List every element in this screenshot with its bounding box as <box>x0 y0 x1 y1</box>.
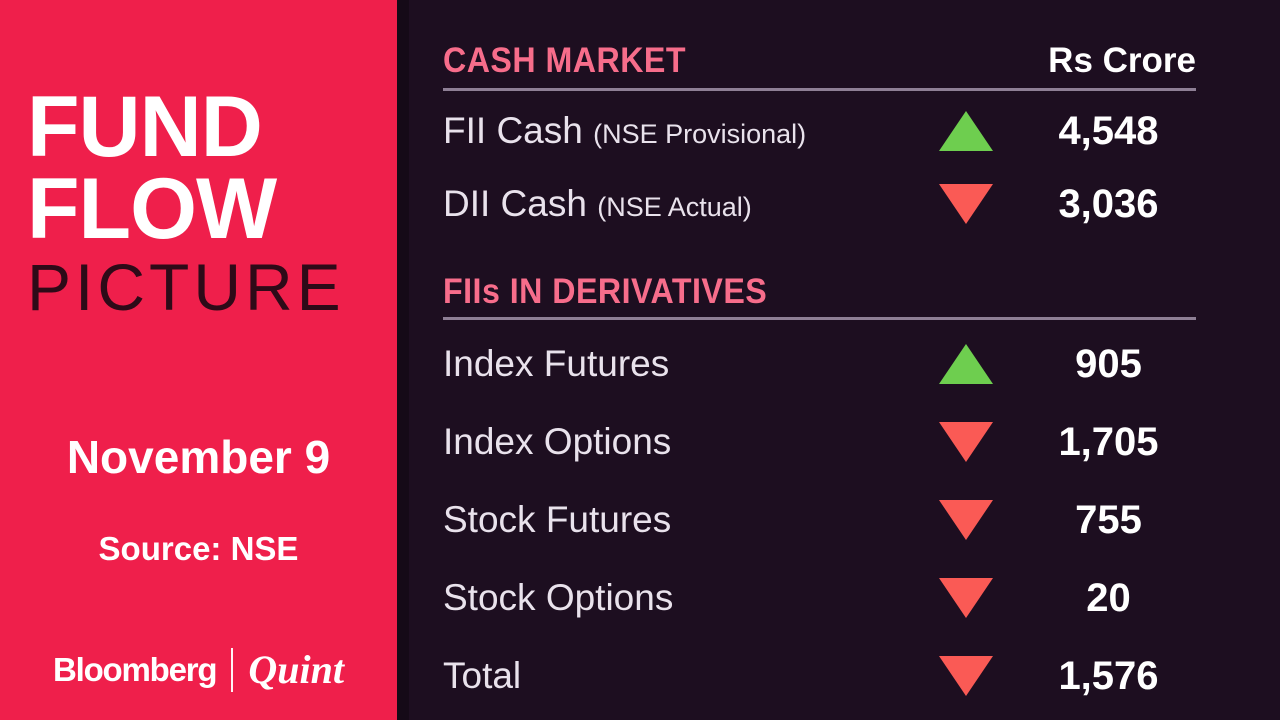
row-value-stock-futures: 755 <box>1021 498 1196 543</box>
triangle-down-icon <box>911 656 1021 696</box>
row-label-fii-cash: FII Cash (NSE Provisional) <box>443 110 911 152</box>
row-label-index-futures: Index Futures <box>443 343 911 385</box>
section-header-fiis-derivatives: FIIs IN DERIVATIVES <box>443 272 1196 312</box>
triangle-down-icon <box>911 184 1021 224</box>
table-row: Index Options 1,705 <box>443 413 1196 471</box>
fund-flow-picture-card: FUND FLOW PICTURE November 9 Source: NSE… <box>0 0 1280 720</box>
section-title-cash-market: CASH MARKET <box>443 41 686 81</box>
source-label: Source: NSE <box>0 530 397 568</box>
logo-bloomberg-text: Bloomberg <box>53 651 216 689</box>
publisher-logo: Bloomberg Quint <box>0 646 397 693</box>
section-unit-rs-crore: Rs Crore <box>1048 41 1196 81</box>
row-value-index-options: 1,705 <box>1021 420 1196 465</box>
triangle-down-icon <box>911 500 1021 540</box>
row-label-stock-futures: Stock Futures <box>443 499 911 541</box>
branding-panel: FUND FLOW PICTURE November 9 Source: NSE… <box>0 0 397 720</box>
logo-quint-text: Quint <box>248 646 344 693</box>
row-value-index-futures: 905 <box>1021 342 1196 387</box>
row-value-dii-cash: 3,036 <box>1021 182 1196 227</box>
row-value-stock-options: 20 <box>1021 576 1196 621</box>
row-value-fii-cash: 4,548 <box>1021 109 1196 154</box>
table-row: DII Cash (NSE Actual) 3,036 <box>443 175 1196 233</box>
panel-gutter <box>397 0 409 720</box>
triangle-up-icon <box>911 344 1021 384</box>
row-sublabel-fii-cash: (NSE Provisional) <box>593 119 806 149</box>
table-row: FII Cash (NSE Provisional) 4,548 <box>443 102 1196 160</box>
triangle-down-icon <box>911 422 1021 462</box>
row-label-index-options: Index Options <box>443 421 911 463</box>
data-panel: CASH MARKET Rs Crore FII Cash (NSE Provi… <box>397 0 1280 720</box>
table-row: Index Futures 905 <box>443 335 1196 393</box>
table-row: Stock Options 20 <box>443 569 1196 627</box>
row-label-dii-cash: DII Cash (NSE Actual) <box>443 183 911 225</box>
logo-divider <box>231 648 233 692</box>
brand-line-fund: FUND <box>27 88 372 168</box>
triangle-up-icon <box>911 111 1021 151</box>
brand-title-block: FUND FLOW PICTURE <box>27 88 372 320</box>
section-rule-cash-market <box>443 88 1196 91</box>
section-title-fiis-derivatives: FIIs IN DERIVATIVES <box>443 272 767 312</box>
section-header-cash-market: CASH MARKET Rs Crore <box>443 41 1196 81</box>
row-sublabel-dii-cash: (NSE Actual) <box>597 192 752 222</box>
section-rule-fiis-derivatives <box>443 317 1196 320</box>
table-row: Stock Futures 755 <box>443 491 1196 549</box>
triangle-down-icon <box>911 578 1021 618</box>
row-value-total: 1,576 <box>1021 654 1196 699</box>
brand-line-picture: PICTURE <box>27 254 372 320</box>
table-row: Total 1,576 <box>443 647 1196 705</box>
report-date: November 9 <box>0 430 397 484</box>
row-label-stock-options: Stock Options <box>443 577 911 619</box>
brand-line-flow: FLOW <box>27 170 372 250</box>
row-label-total: Total <box>443 655 911 697</box>
